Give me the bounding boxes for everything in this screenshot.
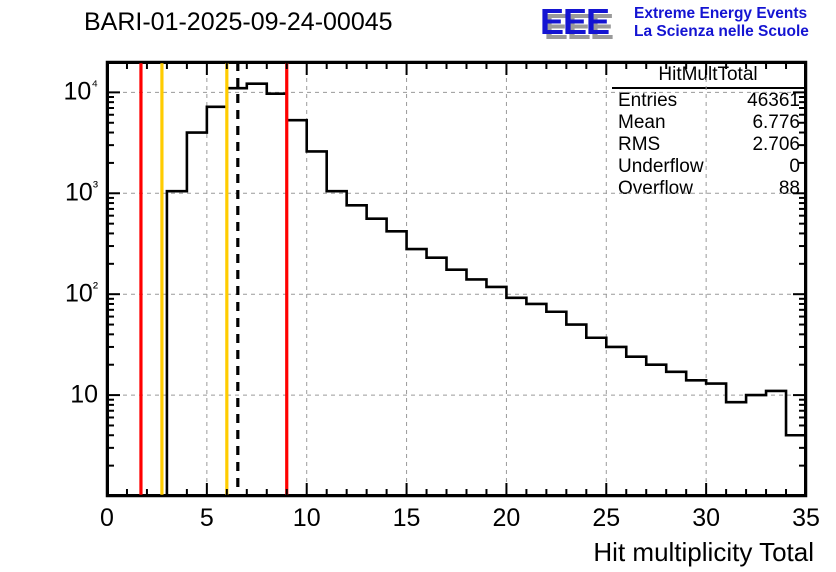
plot-border [107,62,806,496]
x-tick-label: 20 [493,504,521,533]
x-tick-label: 15 [393,504,421,533]
chart-canvas: BARI-01-2025-09-24-00045 EEE EEE Extreme… [0,0,836,572]
y-tick-label: 10⁴ [64,78,98,107]
y-tick-label: 10³ [65,179,98,208]
x-tick-label: 0 [100,504,114,533]
y-tick-label: 10² [65,280,98,309]
histogram-svg [0,0,836,572]
histogram-outline [167,84,806,496]
logo-eee-mark: EEE [540,4,609,40]
y-tick-label: 10 [70,381,98,410]
x-tick-label: 5 [200,504,214,533]
x-tick-label: 35 [792,504,820,533]
x-tick-label: 30 [692,504,720,533]
x-tick-label: 10 [293,504,321,533]
x-tick-label: 25 [592,504,620,533]
